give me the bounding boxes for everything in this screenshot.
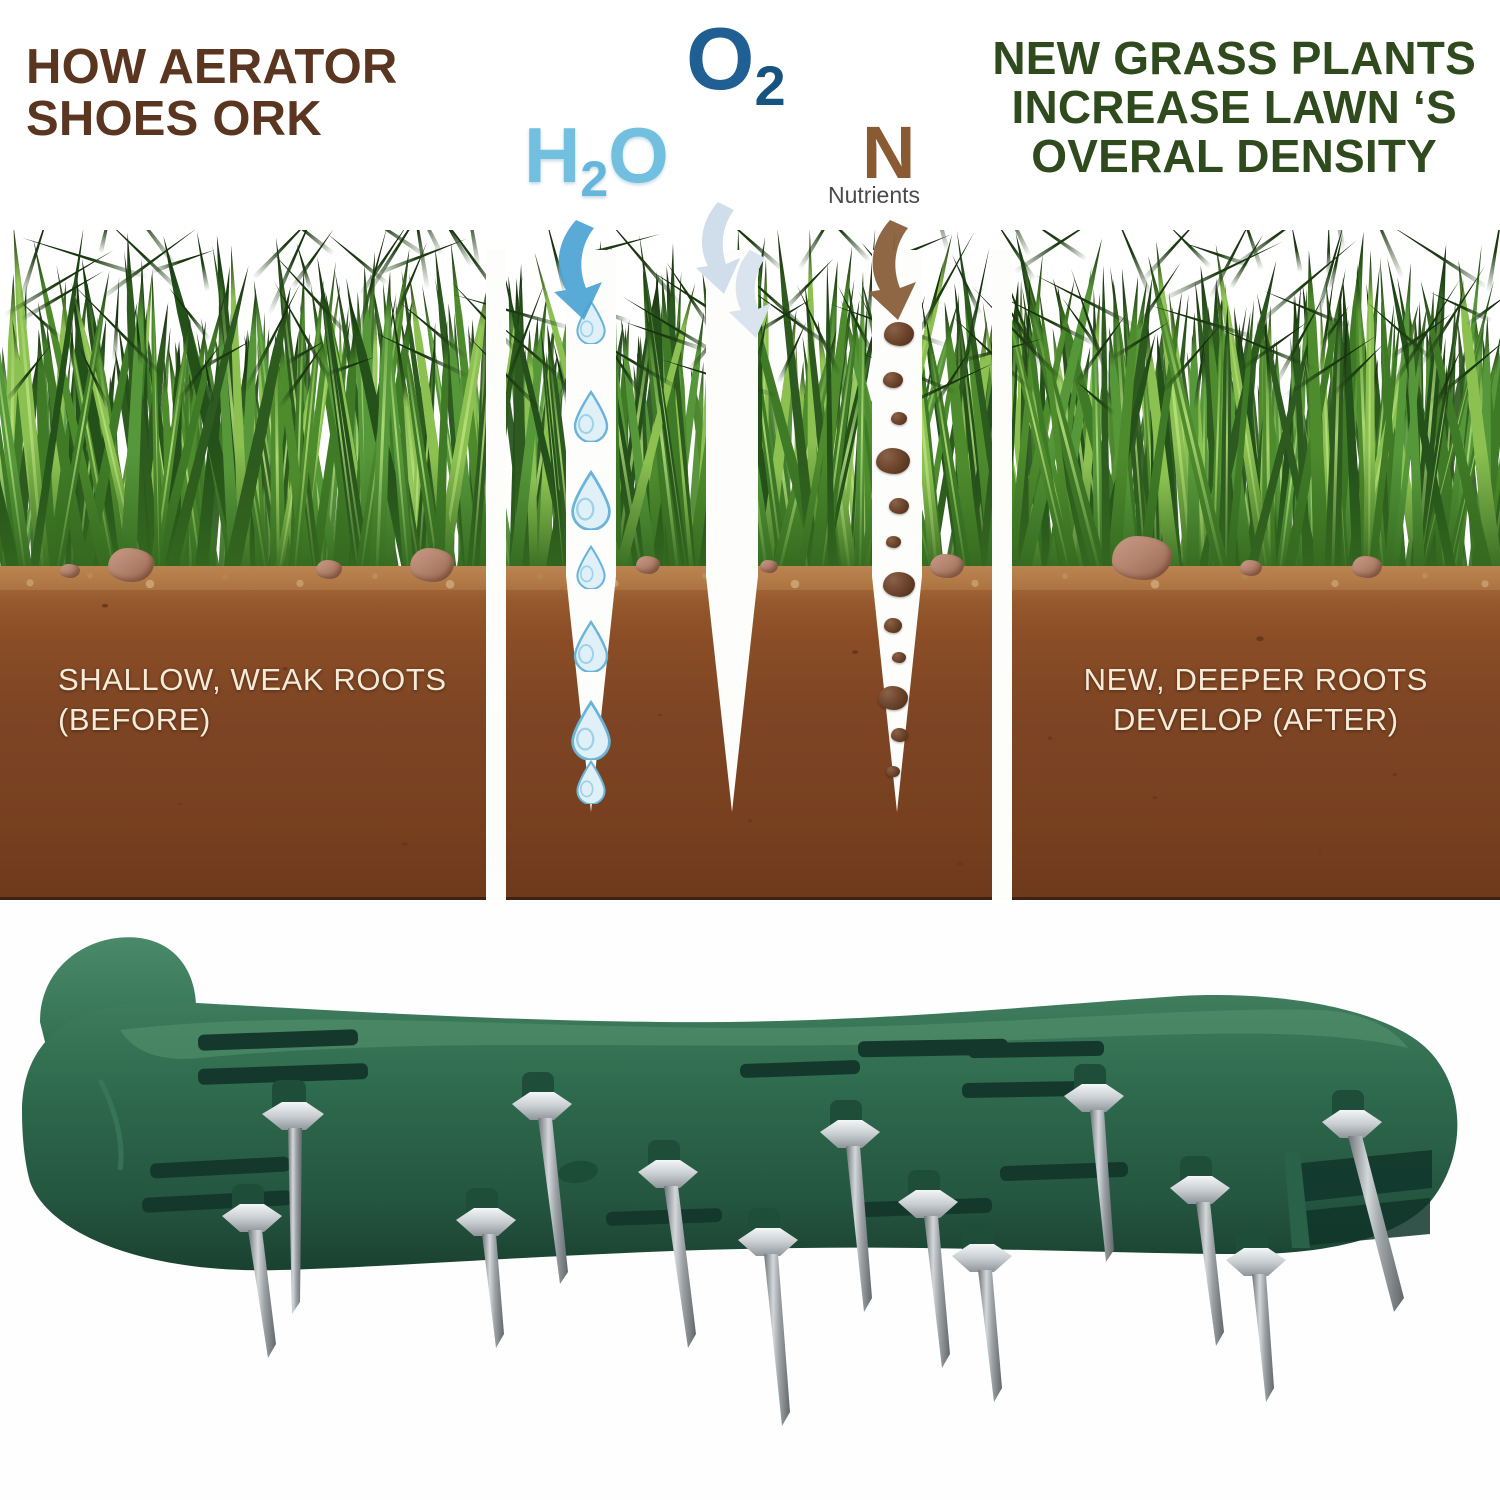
spike [1226,1228,1286,1402]
caption-before: SHALLOW, WEAK ROOTS (BEFORE) [58,660,447,741]
water-droplet-icon [571,620,611,672]
nutrient-particle [884,618,902,633]
h2o-o: O [608,111,669,199]
o2-subscript: 2 [754,54,785,117]
channel-far-right [992,250,1012,900]
grass-tip [1317,230,1345,251]
nutrient-particle [892,652,906,663]
soil-rock [760,560,778,573]
spike [898,1170,958,1368]
label-h2o: H2O [524,110,669,208]
grass-tip [1348,230,1405,279]
nutrient-particle [891,728,908,742]
soil-rock [930,554,964,578]
grass-tip [1486,230,1500,292]
water-droplet-icon [568,700,614,760]
soil-rock [60,564,80,578]
label-nutrients-caption: Nutrients [828,182,920,209]
caption-after: NEW, DEEPER ROOTS DEVELOP (AFTER) [1084,660,1428,741]
water-arrow-icon [546,216,636,326]
oxygen-arrow-icon-2 [724,248,800,344]
grass-tip [194,231,210,292]
soil-rock [1352,556,1382,578]
soil-rock [108,548,154,582]
aerator-sandal-illustration [0,902,1500,1500]
water-droplet-icon [574,760,608,804]
heading-how-aerator-shoes-work: HOW AERATOR SHOES ORK [26,42,398,146]
nutrient-particle [883,372,903,388]
soil-rock [1240,560,1262,576]
grass-tip [151,248,216,274]
nutrient-particle [891,412,907,425]
nutrient-particle [883,572,915,597]
spike [738,1208,798,1426]
infographic-panel: HOW AERATOR SHOES ORK NEW GRASS PLANTS I… [0,0,1500,902]
water-droplet-icon [571,390,611,442]
soil-rock [410,548,454,582]
product-photo-panel [0,902,1500,1500]
nutrient-particle [889,498,909,514]
nutrient-arrow-icon [860,216,946,326]
grass-tip [1326,230,1331,275]
h2o-subscript: 2 [580,151,608,207]
nutrient-particle [886,766,900,777]
soil-rock [636,556,660,574]
soil-rock [316,560,342,579]
h2o-h: H [524,111,580,199]
spike [222,1184,282,1358]
aerator-infographic-page: HOW AERATOR SHOES ORK NEW GRASS PLANTS I… [0,0,1500,1500]
water-droplet-icon [574,545,608,589]
soil-rock [1112,536,1172,580]
grass-tip [1289,230,1303,272]
spike [952,1224,1012,1402]
o2-o: O [686,9,754,108]
grass-tip [1387,230,1488,289]
nutrient-particle [886,536,901,548]
nutrient-particle [876,448,910,474]
label-o2: O2 [686,8,786,118]
water-droplet-icon [568,470,614,530]
grass-tip [98,230,116,254]
heading-new-grass-plants: NEW GRASS PLANTS INCREASE LAWN ‘S OVERAL… [992,34,1476,180]
nutrient-particle [878,686,908,710]
channel-far-left [486,250,506,900]
grass-tip [1108,230,1153,297]
